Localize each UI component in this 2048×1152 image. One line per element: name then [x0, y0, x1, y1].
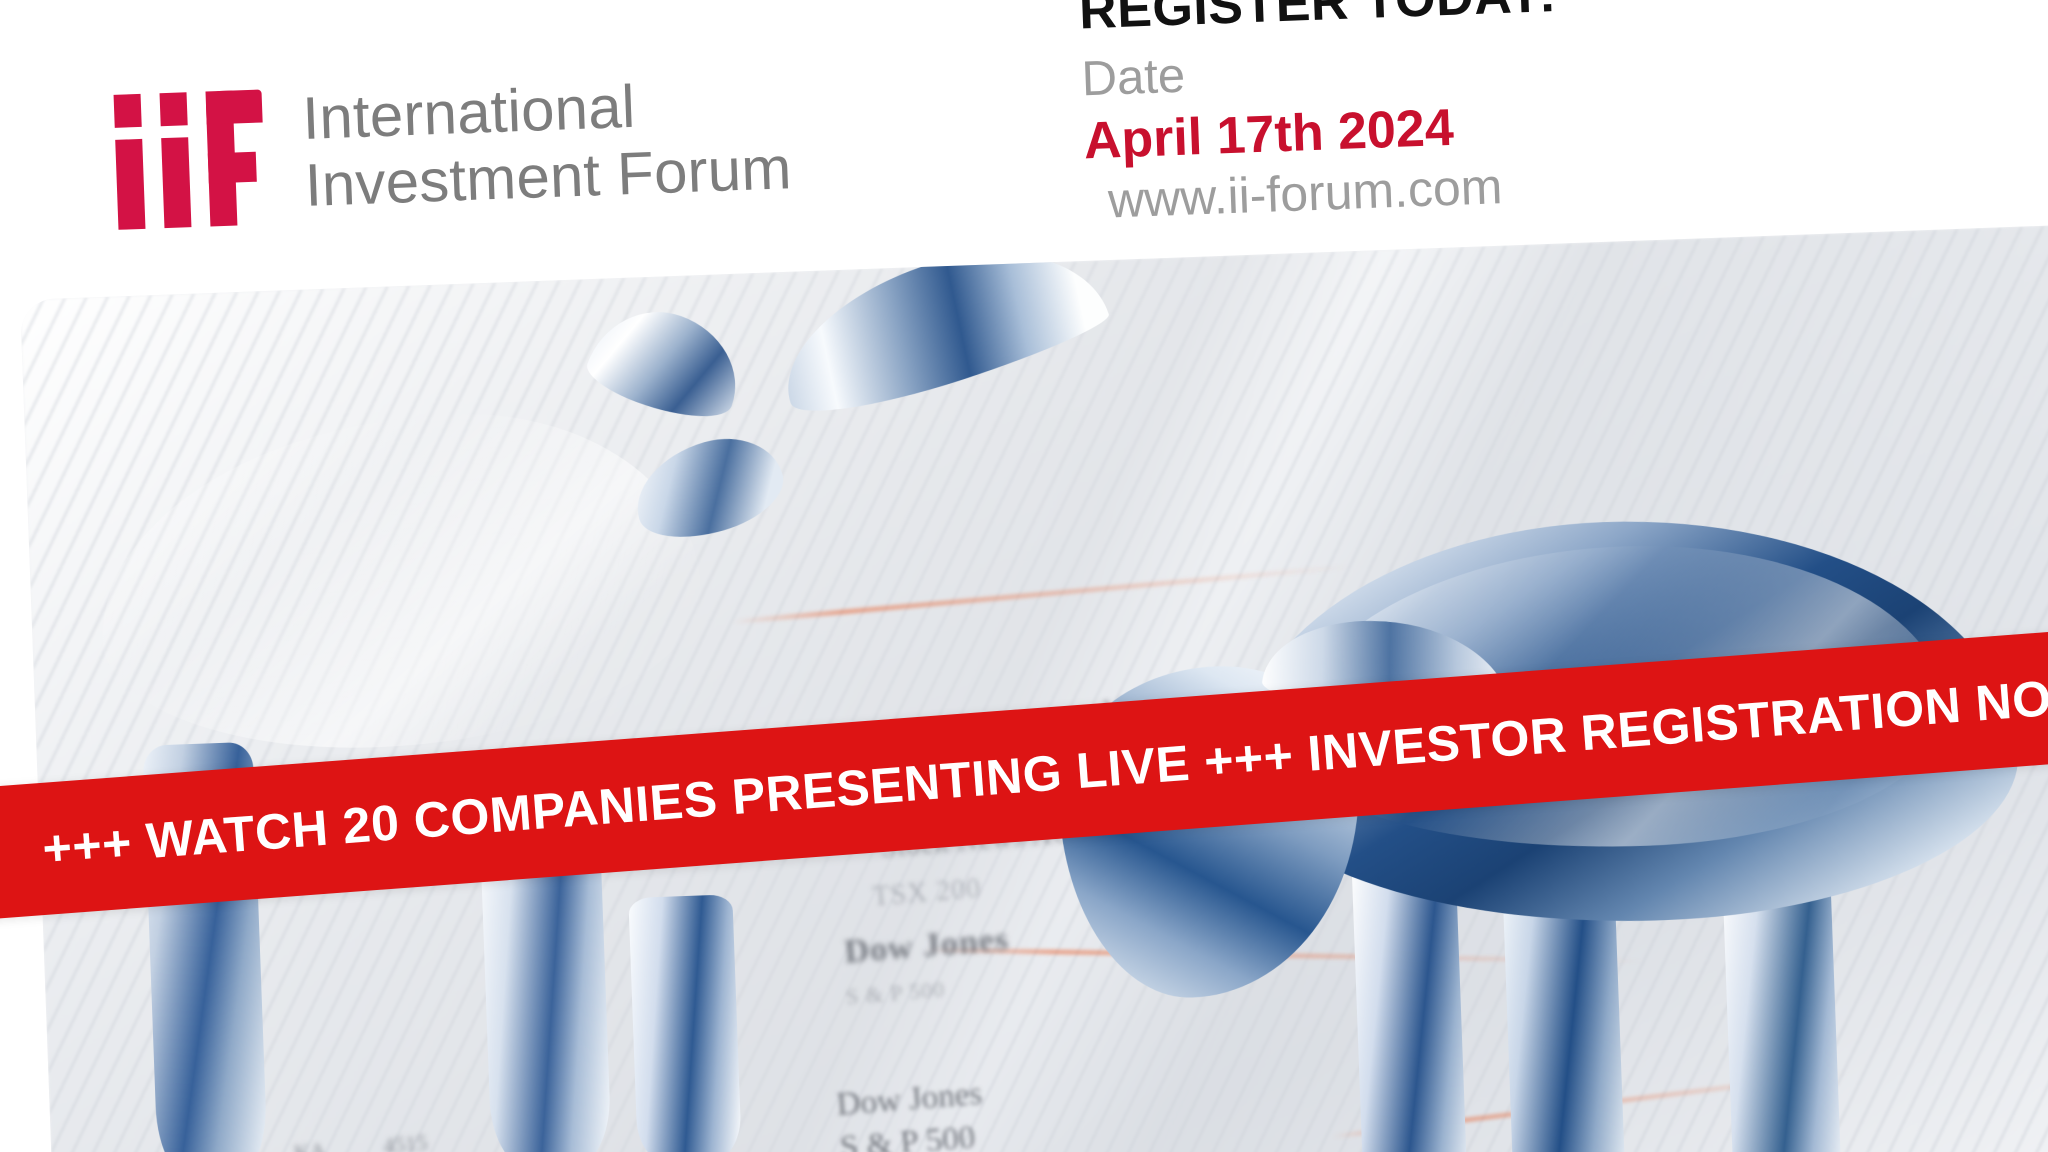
logo-f-arm-mid: [208, 152, 257, 184]
bull-right-leg-4: [1868, 859, 1977, 1152]
brand-wordmark: International Investment Forum: [301, 67, 792, 219]
register-block: REGISTER TODAY: Date April 17th 2024 www…: [1078, 0, 1564, 232]
logo-i-stem-1: [115, 139, 145, 230]
register-title: REGISTER TODAY:: [1078, 0, 1557, 41]
logo-i-stem-2: [161, 137, 191, 228]
brand-logo[interactable]: International Investment Forum: [111, 67, 792, 232]
logo-f-arm-top: [205, 89, 262, 124]
logo-i-dot-2: [160, 92, 188, 126]
logo-letter-f: [205, 89, 266, 226]
logo-i-dot-1: [114, 94, 142, 128]
bull-sculpture-left: [29, 243, 1061, 1152]
iif-logo-icon: [111, 86, 266, 231]
promo-banner-root: International Investment Forum REGISTER …: [0, 0, 2048, 1152]
